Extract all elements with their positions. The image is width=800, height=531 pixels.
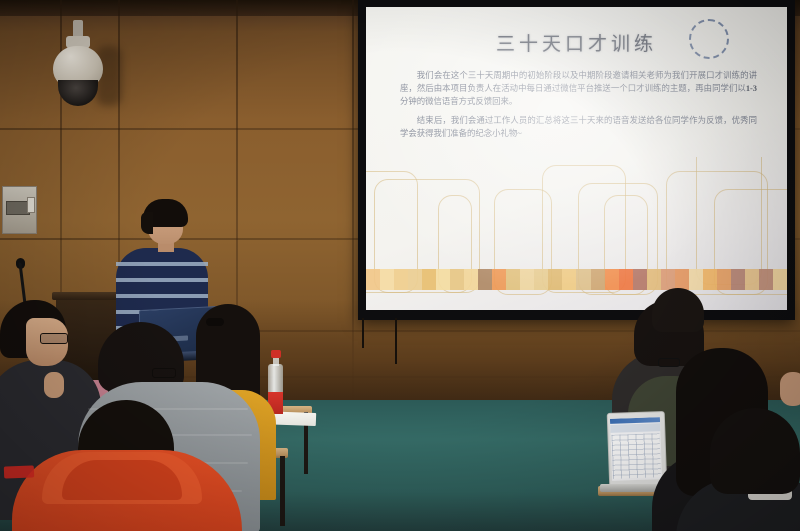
- slide-color-band: [366, 269, 787, 290]
- color-band-square-23: [689, 269, 703, 290]
- audience-far-right-head: [780, 372, 800, 406]
- desk-leg: [280, 456, 285, 526]
- color-band-square-14: [562, 269, 576, 290]
- color-band-square-2: [394, 269, 408, 290]
- laptop-sticker: [4, 465, 34, 478]
- color-band-square-7: [464, 269, 478, 290]
- water-bottle-cap: [271, 350, 281, 358]
- color-band-square-28: [759, 269, 773, 290]
- eyeglasses-icon: [40, 333, 68, 344]
- color-band-square-1: [380, 269, 394, 290]
- hair-tie: [206, 318, 224, 326]
- spreadsheet-cell-grid[interactable]: [611, 433, 661, 479]
- hanging-cable: [362, 318, 364, 348]
- color-band-square-24: [703, 269, 717, 290]
- color-band-square-11: [520, 269, 534, 290]
- audience-laptop-screen[interactable]: [610, 417, 662, 481]
- lecture-hall-photo: 三十天口才训练 我们会在这个三十天周期中的初始阶段以及中期阶段邀请相关老师为我们…: [0, 0, 800, 531]
- projected-slide: 三十天口才训练 我们会在这个三十天周期中的初始阶段以及中期阶段邀请相关老师为我们…: [366, 7, 787, 310]
- color-band-square-29: [773, 269, 787, 290]
- color-band-square-0: [366, 269, 380, 290]
- color-band-square-22: [675, 269, 689, 290]
- color-band-square-25: [717, 269, 731, 290]
- color-band-square-16: [591, 269, 605, 290]
- color-band-square-8: [478, 269, 492, 290]
- color-band-square-9: [492, 269, 506, 290]
- color-band-square-13: [548, 269, 562, 290]
- color-band-square-3: [408, 269, 422, 290]
- spreadsheet-toolbar: [610, 423, 660, 433]
- color-band-square-15: [576, 269, 590, 290]
- loading-spinner-dashed-circle-icon: [689, 19, 729, 59]
- color-band-square-6: [450, 269, 464, 290]
- color-band-square-5: [436, 269, 450, 290]
- slide-paragraph-1: 我们会在这个三十天周期中的初始阶段以及中期阶段邀请相关老师为我们开展口才训练的讲…: [400, 69, 757, 108]
- color-band-square-21: [661, 269, 675, 290]
- color-band-square-19: [633, 269, 647, 290]
- color-band-square-18: [619, 269, 633, 290]
- color-band-square-27: [745, 269, 759, 290]
- color-band-square-26: [731, 269, 745, 290]
- eyeglasses-icon: [658, 358, 680, 367]
- eyeglasses-icon: [152, 368, 176, 378]
- slide-paragraph-2: 结束后，我们会通过工作人员的汇总将这三十天来的语音发送给各位同学作为反馈，优秀同…: [400, 114, 757, 140]
- hanging-cable: [395, 318, 397, 364]
- color-band-square-12: [534, 269, 548, 290]
- color-band-square-4: [422, 269, 436, 290]
- wall-electrical-panel[interactable]: [2, 186, 37, 234]
- color-band-square-17: [605, 269, 619, 290]
- slide-body-text: 我们会在这个三十天周期中的初始阶段以及中期阶段邀请相关老师为我们开展口才训练的讲…: [400, 69, 757, 146]
- audience-olive-jacket-hair: [652, 288, 704, 332]
- audience-bottom-right-hair: [710, 408, 800, 494]
- hoodie-hood-inner: [62, 460, 182, 500]
- color-band-square-20: [647, 269, 661, 290]
- color-band-square-10: [506, 269, 520, 290]
- presenter-hair-side: [141, 212, 153, 234]
- audience-hand: [44, 372, 64, 398]
- panel-switch-icon[interactable]: [27, 197, 35, 213]
- projection-screen-frame: 三十天口才训练 我们会在这个三十天周期中的初始阶段以及中期阶段邀请相关老师为我们…: [358, 0, 795, 320]
